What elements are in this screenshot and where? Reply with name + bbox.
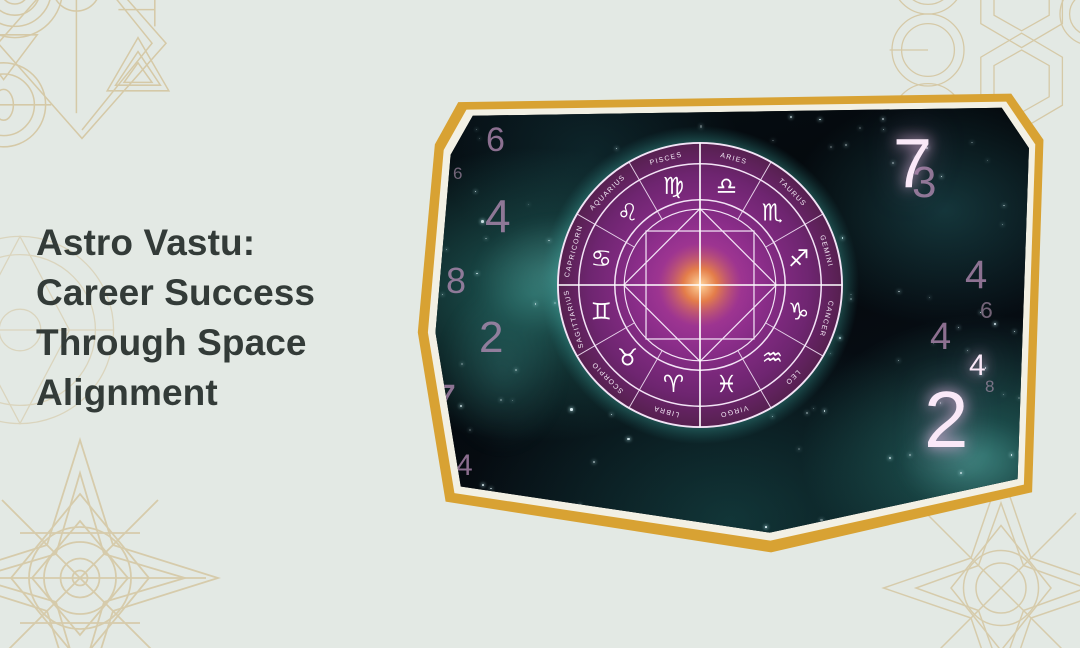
background-number: 2 [924,380,969,460]
zodiac-glyph-capricorn: ♑ [788,298,809,326]
corner-ornament-top-left [0,0,222,214]
page-title: Astro Vastu: Career Success Through Spac… [36,218,426,418]
zodiac-glyph-gemini: ♊ [591,298,612,326]
background-number: 8 [985,378,994,395]
background-number: 6 [980,299,993,322]
background-number: 6 [486,123,505,157]
zodiac-glyph-aquarius: ♒ [762,343,783,371]
zodiac-glyph-taurus: ♉ [617,343,638,371]
background-number: 4 [969,351,986,381]
background-number: 4 [930,318,951,356]
zodiac-glyph-pisces: ♓ [716,370,737,398]
zodiac-glyph-cancer: ♋ [591,244,612,272]
zodiac-artwork-image: 66484274734644826 [414,88,1046,558]
zodiac-glyph-sagittarius: ♐ [788,244,809,272]
zodiac-glyph-virgo: ♍ [663,172,684,200]
background-number: 2 [479,316,503,360]
zodiac-wheel: ♎♏♐♑♒♓♈♉♊♋♌♍ ARIESTAURUSGEMINICANCERLEOV… [539,124,861,446]
background-number: 3 [912,161,936,205]
zodiac-glyph-aries: ♈ [663,370,684,398]
background-number: 4 [485,193,511,239]
background-number: 4 [965,255,987,295]
zodiac-glyph-libra: ♎ [716,172,737,200]
zodiac-glyph-leo: ♌ [617,199,638,227]
background-number: 6 [453,165,462,182]
zodiac-glyph-scorpio: ♏ [762,199,783,227]
background-number: 8 [446,263,466,299]
artwork-frame: 66484274734644826 [414,88,1046,558]
corner-ornament-bottom-left [0,428,230,648]
